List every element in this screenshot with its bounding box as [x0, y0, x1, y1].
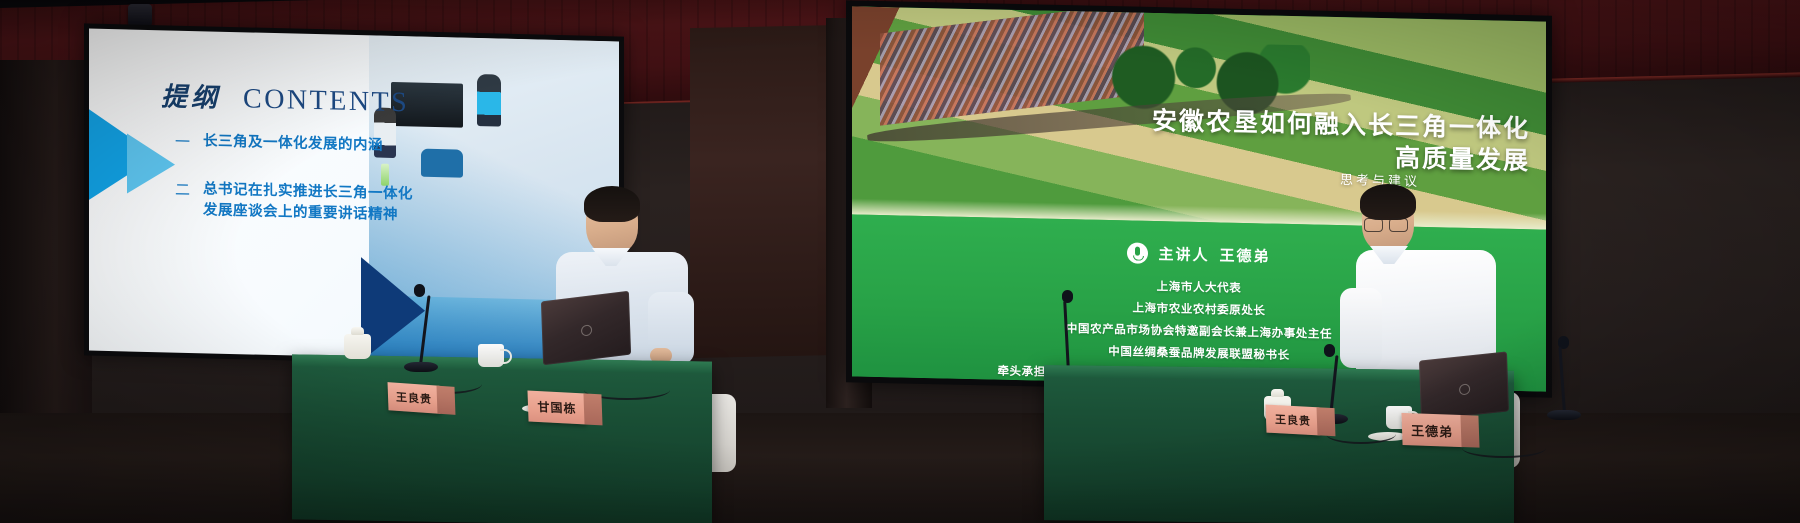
- panel-table-left: [292, 354, 712, 523]
- slide-item-number: 一: [175, 131, 191, 152]
- laptop-left[interactable]: [541, 291, 631, 366]
- slide-title-cn: 提纲: [161, 76, 221, 114]
- lecture-hall-scene: 提纲 CONTENTS 一 长三角及一体化发展的内涵 二 总书记在扎实推进长三角…: [0, 0, 1800, 523]
- slide-contents: 提纲 CONTENTS 一 长三角及一体化发展的内涵 二 总书记在扎实推进长三角…: [89, 29, 619, 364]
- speaker-left-hair: [584, 186, 640, 222]
- microphone-head-icon: [414, 284, 425, 297]
- nameplate-text: 王良贵: [1275, 411, 1312, 429]
- green-slide-title-line1: 安徽农垦如何融入长三角一体化: [1152, 107, 1530, 143]
- wall-column-left: [0, 60, 92, 460]
- slide-list-item-2: 二 总书记在扎实推进长三角一体化发展座谈会上的重要讲话精神: [175, 179, 418, 227]
- slide-item-text: 总书记在扎实推进长三角一体化发展座谈会上的重要讲话精神: [203, 179, 418, 226]
- nameplate-side: [583, 393, 602, 425]
- slide-title-en: CONTENTS: [243, 83, 409, 119]
- photo-bottle: [381, 164, 389, 186]
- slide-item-text: 长三角及一体化发展的内涵: [203, 131, 383, 156]
- nameplate-side: [1460, 415, 1479, 448]
- microphone-base: [404, 362, 438, 372]
- nameplate-text: 甘国栋: [537, 398, 577, 417]
- nameplate-left-2: 甘国栋: [527, 390, 586, 424]
- photo-chair: [421, 149, 463, 178]
- nameplate-side: [436, 386, 455, 415]
- speaker-right-arm: [1340, 288, 1382, 368]
- nameplate-left-1: 王良贵: [388, 382, 441, 414]
- photo-person-a: [477, 74, 501, 127]
- microphone-icon: [1127, 242, 1148, 263]
- laptop-right[interactable]: [1419, 351, 1509, 420]
- nameplate-right-2: 王德弟: [1401, 413, 1462, 447]
- microphone-head-icon: [1324, 344, 1335, 357]
- speaker-right-hair: [1360, 184, 1416, 220]
- slide-title: 提纲 CONTENTS: [161, 76, 409, 119]
- nameplate-side: [1316, 407, 1335, 436]
- green-slide-title: 安徽农垦如何融入长三角一体化 高质量发展: [1070, 103, 1530, 177]
- tea-cup-left: [344, 334, 371, 359]
- microphone-base: [1547, 410, 1581, 420]
- mic-cable-right: [1326, 424, 1396, 444]
- nameplate-text: 王德弟: [1411, 420, 1454, 441]
- speaker-name: 王德弟: [1220, 244, 1271, 266]
- coffee-cup-left: [478, 344, 504, 367]
- slide-item-number: 二: [175, 179, 191, 200]
- nameplate-text: 王良贵: [396, 389, 433, 408]
- slide-list-item-1: 一 长三角及一体化发展的内涵: [175, 131, 383, 157]
- speaker-label: 主讲人: [1158, 243, 1209, 265]
- eyeglasses-icon: [1364, 218, 1408, 230]
- floor: [0, 413, 1800, 523]
- nameplate-right-1: 王良贵: [1266, 405, 1321, 436]
- chevron-accent-small-icon: [127, 133, 175, 194]
